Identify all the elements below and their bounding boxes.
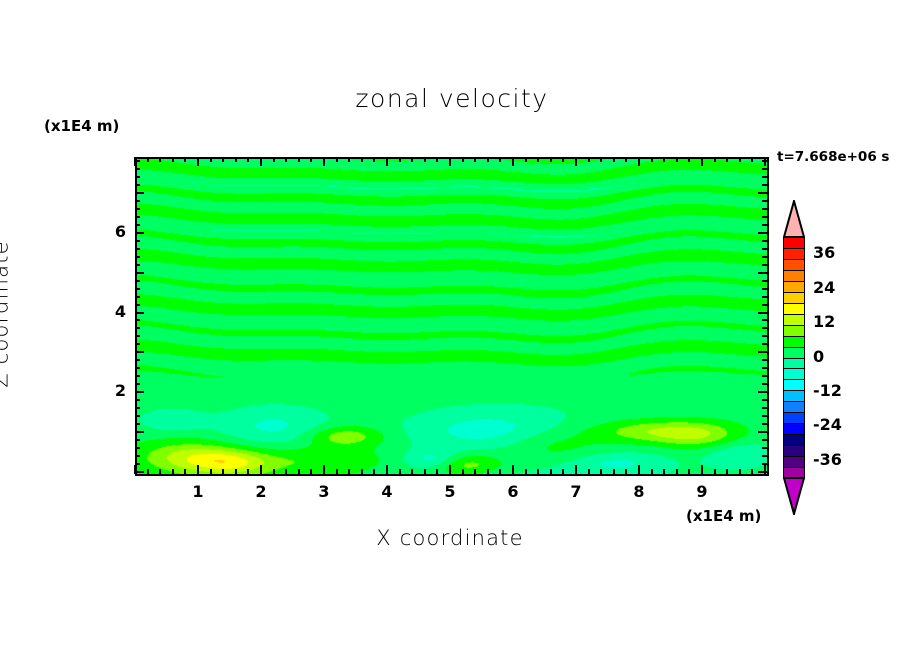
y-minor-tick (135, 367, 140, 369)
page-title: zonal velocity (0, 84, 904, 113)
y-major-tick (135, 192, 144, 194)
x-minor-tick (235, 469, 237, 474)
x-minor-tick (676, 157, 678, 162)
y-minor-tick (762, 208, 767, 210)
x-major-tick (638, 157, 640, 166)
y-minor-tick (762, 184, 767, 186)
y-minor-tick (135, 463, 140, 465)
x-minor-tick (184, 469, 186, 474)
x-minor-tick (172, 469, 174, 474)
x-minor-tick (537, 157, 539, 162)
y-minor-tick (762, 415, 767, 417)
y-minor-tick (135, 160, 140, 162)
colorbar-overflow-bottom-arrow (783, 477, 805, 515)
y-major-tick (758, 351, 767, 353)
x-minor-tick (588, 157, 590, 162)
x-minor-tick (361, 469, 363, 474)
y-major-tick (758, 431, 767, 433)
x-minor-tick (298, 157, 300, 162)
x-minor-tick (462, 157, 464, 162)
x-major-tick (701, 157, 703, 166)
y-minor-tick (135, 176, 140, 178)
x-minor-tick (222, 157, 224, 162)
x-minor-tick (714, 469, 716, 474)
x-minor-tick (247, 157, 249, 162)
x-major-tick (512, 157, 514, 166)
x-minor-tick (184, 157, 186, 162)
x-tick-label: 5 (435, 482, 465, 501)
y-major-tick (758, 192, 767, 194)
x-minor-tick (676, 469, 678, 474)
x-minor-tick (613, 469, 615, 474)
y-minor-tick (135, 264, 140, 266)
y-minor-tick (135, 280, 140, 282)
y-minor-tick (135, 319, 140, 321)
x-major-tick (449, 157, 451, 166)
y-minor-tick (762, 304, 767, 306)
x-minor-tick (273, 157, 275, 162)
y-minor-tick (762, 256, 767, 258)
y-minor-tick (135, 248, 140, 250)
x-minor-tick (235, 157, 237, 162)
x-tick-label: 4 (372, 482, 402, 501)
y-axis-unit-label: (x1E4 m) (44, 117, 119, 135)
x-minor-tick (285, 157, 287, 162)
x-minor-tick (739, 469, 741, 474)
y-minor-tick (135, 184, 140, 186)
x-minor-tick (310, 469, 312, 474)
x-major-tick (260, 465, 262, 474)
x-minor-tick (726, 157, 728, 162)
x-axis-title: X coordinate (135, 526, 765, 550)
x-minor-tick (462, 469, 464, 474)
x-minor-tick (399, 157, 401, 162)
y-tick-label: 4 (102, 302, 126, 321)
x-minor-tick (348, 157, 350, 162)
x-major-tick (575, 157, 577, 166)
y-minor-tick (762, 168, 767, 170)
x-minor-tick (373, 469, 375, 474)
colorbar-tick-label: 36 (813, 243, 835, 262)
x-tick-label: 7 (561, 482, 591, 501)
x-minor-tick (751, 157, 753, 162)
y-tick-label: 2 (102, 381, 126, 400)
y-minor-tick (135, 296, 140, 298)
x-minor-tick (210, 469, 212, 474)
x-minor-tick (487, 469, 489, 474)
y-minor-tick (135, 415, 140, 417)
colorbar-tick-label: -12 (813, 381, 842, 400)
x-minor-tick (625, 157, 627, 162)
colorbar-tick-label: -36 (813, 450, 842, 469)
x-tick-label: 2 (246, 482, 276, 501)
x-major-tick (323, 157, 325, 166)
x-major-tick (323, 465, 325, 474)
y-minor-tick (762, 327, 767, 329)
x-axis-unit-label: (x1E4 m) (686, 507, 761, 525)
contour-plot-area[interactable] (135, 157, 769, 476)
y-minor-tick (135, 200, 140, 202)
y-major-tick (758, 471, 767, 473)
x-minor-tick (222, 469, 224, 474)
x-minor-tick (499, 157, 501, 162)
x-major-tick (386, 157, 388, 166)
y-minor-tick (762, 216, 767, 218)
x-minor-tick (436, 469, 438, 474)
y-major-tick (758, 272, 767, 274)
y-minor-tick (135, 288, 140, 290)
x-minor-tick (411, 157, 413, 162)
x-tick-label: 3 (309, 482, 339, 501)
y-major-tick (758, 232, 767, 234)
y-major-tick (135, 312, 144, 314)
x-minor-tick (525, 157, 527, 162)
y-minor-tick (762, 375, 767, 377)
x-minor-tick (474, 157, 476, 162)
y-minor-tick (762, 343, 767, 345)
x-minor-tick (285, 469, 287, 474)
x-minor-tick (172, 157, 174, 162)
y-minor-tick (762, 439, 767, 441)
x-minor-tick (336, 469, 338, 474)
x-major-tick (386, 465, 388, 474)
y-minor-tick (135, 423, 140, 425)
x-major-tick (701, 465, 703, 474)
y-minor-tick (762, 399, 767, 401)
x-minor-tick (714, 157, 716, 162)
x-minor-tick (600, 469, 602, 474)
y-minor-tick (762, 455, 767, 457)
x-minor-tick (247, 469, 249, 474)
y-major-tick (135, 471, 144, 473)
y-minor-tick (762, 176, 767, 178)
x-minor-tick (336, 157, 338, 162)
y-minor-tick (762, 224, 767, 226)
y-minor-tick (762, 200, 767, 202)
x-tick-label: 9 (687, 482, 717, 501)
y-minor-tick (762, 288, 767, 290)
y-minor-tick (135, 168, 140, 170)
x-tick-label: 6 (498, 482, 528, 501)
y-minor-tick (762, 359, 767, 361)
y-minor-tick (762, 423, 767, 425)
x-major-tick (260, 157, 262, 166)
x-minor-tick (474, 469, 476, 474)
y-minor-tick (135, 216, 140, 218)
x-minor-tick (373, 157, 375, 162)
x-minor-tick (613, 157, 615, 162)
y-minor-tick (762, 160, 767, 162)
x-minor-tick (588, 469, 590, 474)
x-minor-tick (499, 469, 501, 474)
x-minor-tick (562, 157, 564, 162)
y-minor-tick (762, 296, 767, 298)
colorbar[interactable] (783, 237, 805, 478)
x-minor-tick (663, 157, 665, 162)
x-minor-tick (399, 469, 401, 474)
x-major-tick (638, 465, 640, 474)
timestamp-annotation: t=7.668e+06 s (777, 149, 889, 165)
colorbar-tick-label: 12 (813, 312, 835, 331)
y-major-tick (135, 351, 144, 353)
x-major-tick (575, 465, 577, 474)
x-minor-tick (688, 469, 690, 474)
y-minor-tick (135, 399, 140, 401)
x-minor-tick (739, 157, 741, 162)
y-tick-label: 6 (102, 222, 126, 241)
x-minor-tick (663, 469, 665, 474)
y-minor-tick (762, 240, 767, 242)
y-minor-tick (762, 407, 767, 409)
colorbar-tick-label: 0 (813, 347, 824, 366)
x-major-tick (197, 465, 199, 474)
y-major-tick (758, 391, 767, 393)
x-minor-tick (550, 157, 552, 162)
y-major-tick (135, 431, 144, 433)
x-minor-tick (273, 469, 275, 474)
y-major-tick (758, 312, 767, 314)
y-minor-tick (762, 447, 767, 449)
x-minor-tick (550, 469, 552, 474)
y-minor-tick (135, 335, 140, 337)
x-minor-tick (625, 469, 627, 474)
x-minor-tick (159, 469, 161, 474)
y-minor-tick (135, 439, 140, 441)
x-minor-tick (562, 469, 564, 474)
x-minor-tick (537, 469, 539, 474)
y-minor-tick (135, 455, 140, 457)
x-minor-tick (348, 469, 350, 474)
x-minor-tick (424, 469, 426, 474)
y-minor-tick (135, 447, 140, 449)
x-minor-tick (147, 157, 149, 162)
x-major-tick (197, 157, 199, 166)
x-major-tick (512, 465, 514, 474)
y-minor-tick (135, 359, 140, 361)
colorbar-tick-label: 24 (813, 278, 835, 297)
y-minor-tick (762, 248, 767, 250)
x-minor-tick (651, 469, 653, 474)
y-minor-tick (762, 463, 767, 465)
y-minor-tick (762, 280, 767, 282)
x-minor-tick (436, 157, 438, 162)
y-minor-tick (135, 327, 140, 329)
x-tick-label: 8 (624, 482, 654, 501)
y-minor-tick (762, 383, 767, 385)
x-tick-label: 1 (183, 482, 213, 501)
x-minor-tick (651, 157, 653, 162)
x-minor-tick (688, 157, 690, 162)
x-minor-tick (361, 157, 363, 162)
x-minor-tick (525, 469, 527, 474)
x-minor-tick (600, 157, 602, 162)
x-minor-tick (424, 157, 426, 162)
y-minor-tick (135, 208, 140, 210)
y-minor-tick (135, 224, 140, 226)
y-minor-tick (135, 375, 140, 377)
colorbar-overflow-top-arrow (783, 200, 805, 238)
x-minor-tick (159, 157, 161, 162)
x-minor-tick (298, 469, 300, 474)
y-minor-tick (135, 343, 140, 345)
x-minor-tick (310, 157, 312, 162)
y-minor-tick (762, 319, 767, 321)
colorbar-tick-label: -24 (813, 415, 842, 434)
y-major-tick (135, 232, 144, 234)
y-minor-tick (135, 240, 140, 242)
y-major-tick (135, 272, 144, 274)
y-minor-tick (135, 256, 140, 258)
y-minor-tick (762, 335, 767, 337)
y-minor-tick (135, 304, 140, 306)
y-axis-title: Z coordinate (0, 157, 13, 472)
x-minor-tick (210, 157, 212, 162)
y-minor-tick (762, 264, 767, 266)
x-minor-tick (726, 469, 728, 474)
y-minor-tick (762, 367, 767, 369)
y-minor-tick (135, 383, 140, 385)
x-minor-tick (751, 469, 753, 474)
contour-field-canvas (137, 159, 767, 474)
y-major-tick (135, 391, 144, 393)
x-major-tick (449, 465, 451, 474)
x-minor-tick (487, 157, 489, 162)
x-minor-tick (147, 469, 149, 474)
y-minor-tick (135, 407, 140, 409)
x-minor-tick (411, 469, 413, 474)
